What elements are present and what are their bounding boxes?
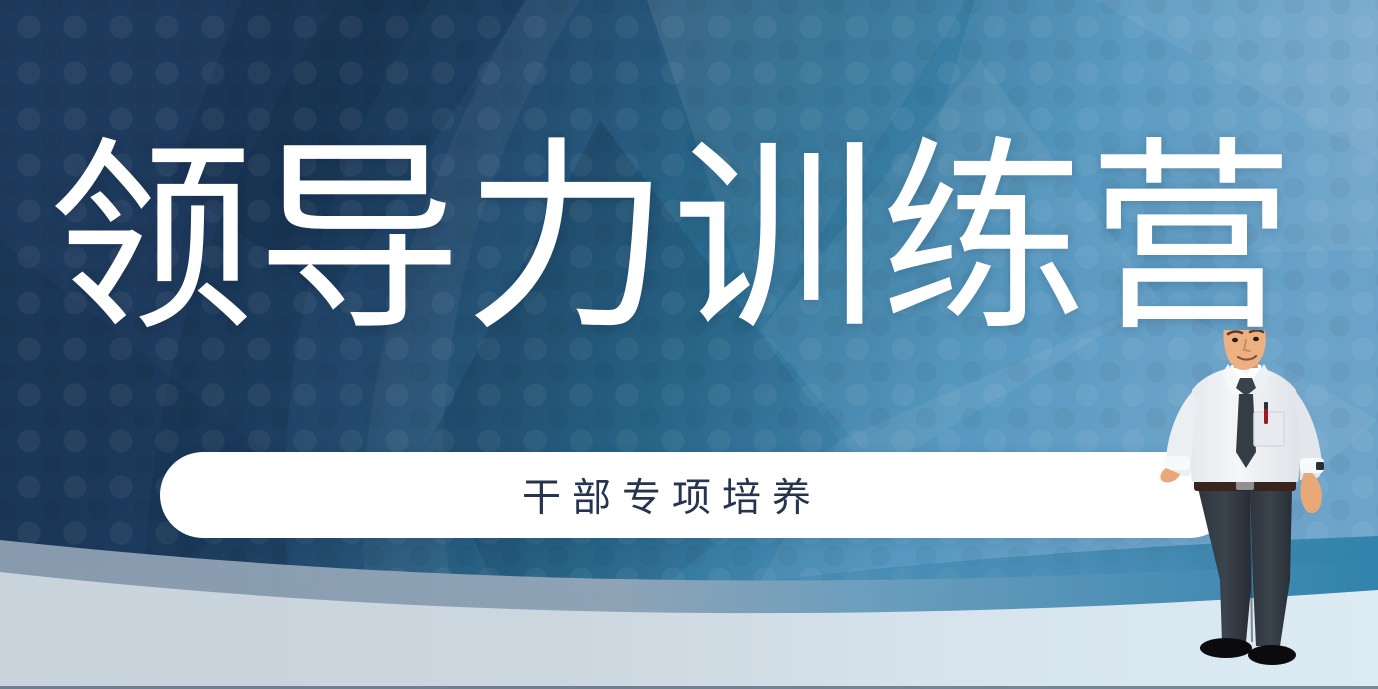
- subtitle-text: 干部专项培养: [160, 452, 1173, 538]
- pen-cap-icon: [1264, 402, 1268, 409]
- shoe-right: [1248, 645, 1296, 665]
- shirt-pocket: [1254, 412, 1284, 446]
- cufflink-icon: [1316, 462, 1324, 470]
- hand-right: [1301, 473, 1322, 513]
- trouser-right: [1250, 488, 1292, 646]
- eye-right: [1253, 337, 1259, 341]
- shoe-left: [1200, 638, 1252, 658]
- trouser-left: [1198, 488, 1251, 642]
- page-title: 领导力训练营: [48, 136, 1338, 342]
- cuff-left: [1164, 456, 1190, 470]
- businessman-illustration: [1150, 330, 1350, 670]
- promo-banner: 领导力训练营 干部专项培养: [0, 0, 1378, 689]
- eye-left: [1232, 338, 1238, 342]
